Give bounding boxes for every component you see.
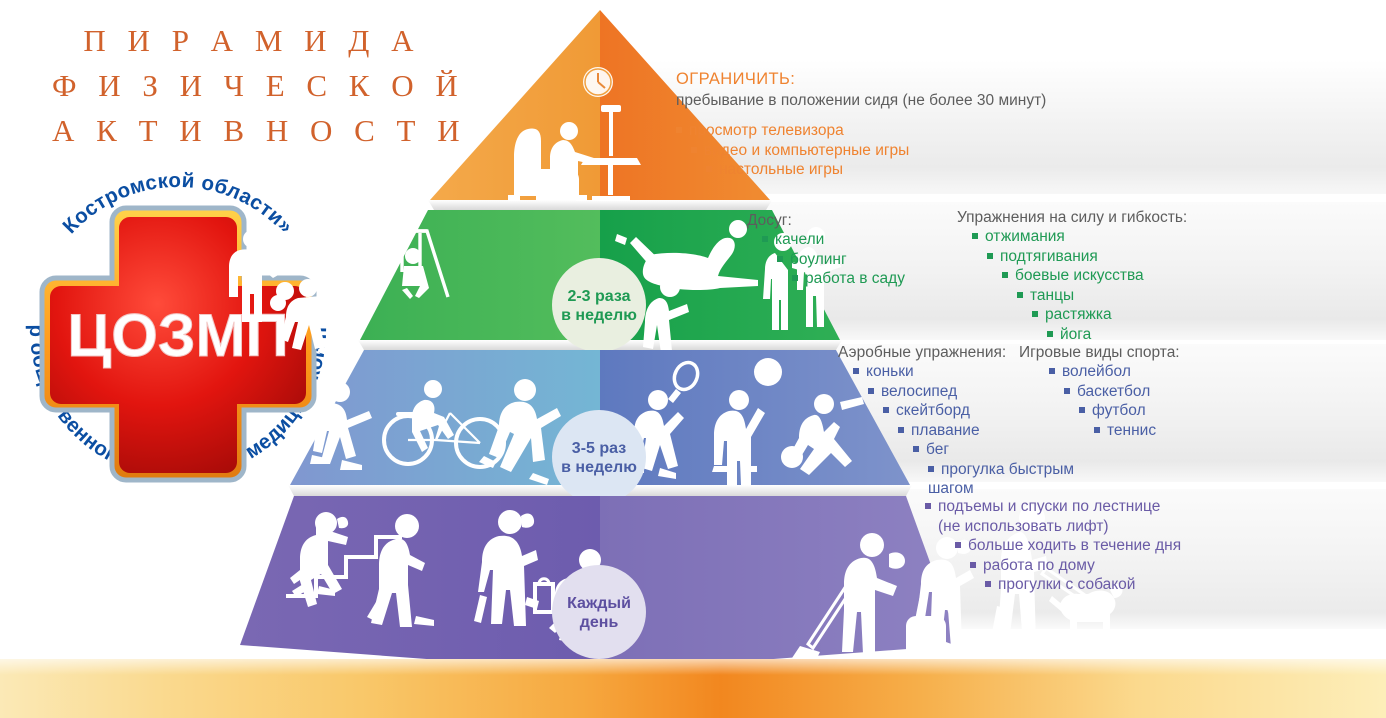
list-item[interactable]: качели	[747, 230, 905, 250]
list-item[interactable]: танцы	[957, 286, 1187, 306]
bullet-icon	[1047, 331, 1053, 337]
clock-icon	[583, 67, 613, 97]
list-item[interactable]: прогулки с собакой	[925, 575, 1181, 595]
list-item-label: качели	[775, 231, 824, 248]
bullet-icon	[1064, 388, 1070, 394]
list-item[interactable]: просмотр телевизора	[676, 121, 1376, 141]
list-item[interactable]: боевые искусства	[957, 266, 1187, 286]
list-item-label: боулинг	[790, 251, 847, 268]
list-item[interactable]: волейбол	[1019, 362, 1180, 382]
list-item[interactable]: работа по дому	[925, 556, 1181, 576]
panel-strength-heading: Упражнения на силу и гибкость:	[957, 209, 1187, 227]
list-item[interactable]: видео и компьютерные игры	[676, 141, 1376, 161]
svg-text:в неделю: в неделю	[561, 307, 637, 324]
frequency-bubble-two-three: 2-3 раза в неделю	[552, 258, 646, 352]
list-item[interactable]: подтягивания	[957, 247, 1187, 267]
bottom-band-sheen	[0, 659, 1386, 675]
bullet-icon	[1049, 368, 1055, 374]
panel-leisure-list: качели боулинг работа в саду	[747, 230, 905, 289]
list-item-label: скейтборд	[896, 402, 970, 419]
bullet-icon	[987, 253, 993, 259]
list-item-label: волейбол	[1062, 363, 1131, 380]
bullet-icon	[868, 388, 874, 394]
bullet-icon	[1017, 292, 1023, 298]
list-item[interactable]: работа в саду	[747, 269, 905, 289]
svg-text:Каждый: Каждый	[567, 595, 631, 612]
list-item-label: боевые искусства	[1015, 267, 1144, 284]
list-item[interactable]: йога	[957, 325, 1187, 345]
frequency-bubble-three-five: 3-5 раз в неделю	[552, 410, 646, 504]
list-item-label: отжимания	[985, 228, 1065, 245]
bullet-icon	[853, 368, 859, 374]
list-item-label: шагом	[928, 480, 974, 497]
list-item-label: просмотр телевизора	[689, 122, 844, 139]
bullet-icon	[925, 503, 931, 509]
list-item-label: работа в саду	[805, 270, 905, 287]
person-with-ball-icon	[229, 230, 294, 322]
list-item-label: видео и компьютерные игры	[704, 142, 909, 159]
list-item-label: подтягивания	[1000, 248, 1098, 265]
list-item-label: прогулка быстрым	[941, 461, 1074, 478]
list-item[interactable]: больше ходить в течение дня	[925, 536, 1181, 556]
panel-daily-list: подъемы и спуски по лестнице (не использ…	[925, 497, 1181, 595]
list-item-label: футбол	[1092, 402, 1146, 419]
bullet-icon	[972, 233, 978, 239]
panel-daily: подъемы и спуски по лестнице (не использ…	[925, 497, 1181, 595]
list-item[interactable]: футбол	[1019, 401, 1180, 421]
list-item[interactable]: баскетбол	[1019, 382, 1180, 402]
panel-limit-list: просмотр телевизора видео и компьютерные…	[676, 121, 1376, 180]
panel-limit-heading: ОГРАНИЧИТЬ:	[676, 70, 1376, 89]
panel-games: Игровые виды спорта: волейбол баскетбол …	[1019, 344, 1180, 440]
list-item-label: бег	[926, 441, 949, 458]
pyramid-tier-three-five[interactable]: 3-5 раз в неделю	[288, 350, 912, 504]
panel-limit-subtitle: пребывание в положении сидя (не более 30…	[676, 92, 1376, 110]
bullet-icon	[883, 407, 889, 413]
list-item-label: плавание	[911, 422, 980, 439]
bullet-icon	[691, 147, 697, 153]
list-item-label: баскетбол	[1077, 383, 1150, 400]
list-item[interactable]: теннис	[1019, 421, 1180, 441]
svg-text:в неделю: в неделю	[561, 459, 637, 476]
list-item-label: йога	[1060, 326, 1091, 343]
list-item-label: растяжка	[1045, 306, 1112, 323]
bullet-icon	[1002, 272, 1008, 278]
panel-games-heading: Игровые виды спорта:	[1019, 344, 1180, 362]
panel-limit: ОГРАНИЧИТЬ: пребывание в положении сидя …	[676, 70, 1376, 180]
list-item-label: больше ходить в течение дня	[968, 537, 1181, 554]
bullet-icon	[1032, 311, 1038, 317]
list-item[interactable]: подъемы и спуски по лестнице (не использ…	[925, 497, 1181, 536]
list-item[interactable]: боулинг	[747, 250, 905, 270]
bullet-icon	[676, 127, 682, 133]
svg-text:день: день	[580, 614, 619, 631]
panel-leisure-heading: Досуг:	[747, 212, 905, 230]
bullet-icon	[1094, 427, 1100, 433]
bullet-icon	[706, 166, 712, 172]
panel-strength: Упражнения на силу и гибкость: отжимания…	[957, 209, 1187, 344]
panel-games-list: волейбол баскетбол футбол теннис	[1019, 362, 1180, 440]
list-item[interactable]: настольные игры	[676, 160, 1376, 180]
bullet-icon	[792, 275, 798, 281]
bullet-icon	[777, 256, 783, 262]
bullet-icon	[898, 427, 904, 433]
panel-strength-list: отжимания подтягивания боевые искусства …	[957, 227, 1187, 344]
list-item-label: работа по дому	[983, 557, 1095, 574]
list-item[interactable]: отжимания	[957, 227, 1187, 247]
list-item-label: танцы	[1030, 287, 1074, 304]
bullet-icon	[985, 581, 991, 587]
svg-text:2-3 раза: 2-3 раза	[567, 288, 630, 305]
list-item-label: настольные игры	[719, 161, 843, 178]
list-item[interactable]: растяжка	[957, 305, 1187, 325]
list-item-label: прогулки с собакой	[998, 576, 1135, 593]
list-item-label: коньки	[866, 363, 914, 380]
bullet-icon	[928, 466, 934, 472]
frequency-bubble-every-day: Каждый день	[552, 565, 646, 659]
list-item[interactable]: прогулка быстрым	[838, 460, 1074, 480]
list-item-continuation: (не использовать лифт)	[925, 517, 1181, 537]
svg-text:3-5 раз: 3-5 раз	[572, 440, 626, 457]
bullet-icon	[913, 446, 919, 452]
bullet-icon	[970, 562, 976, 568]
list-item-continuation: шагом	[838, 479, 1074, 499]
list-item-label: подъемы и спуски по лестнице	[938, 498, 1160, 515]
bullet-icon	[762, 236, 768, 242]
panel-leisure: Досуг: качели боулинг работа в саду	[747, 212, 905, 289]
bullet-icon	[955, 542, 961, 548]
list-item-label: теннис	[1107, 422, 1156, 439]
list-item[interactable]: бег	[838, 440, 1074, 460]
list-item-label: велосипед	[881, 383, 957, 400]
bullet-icon	[1079, 407, 1085, 413]
